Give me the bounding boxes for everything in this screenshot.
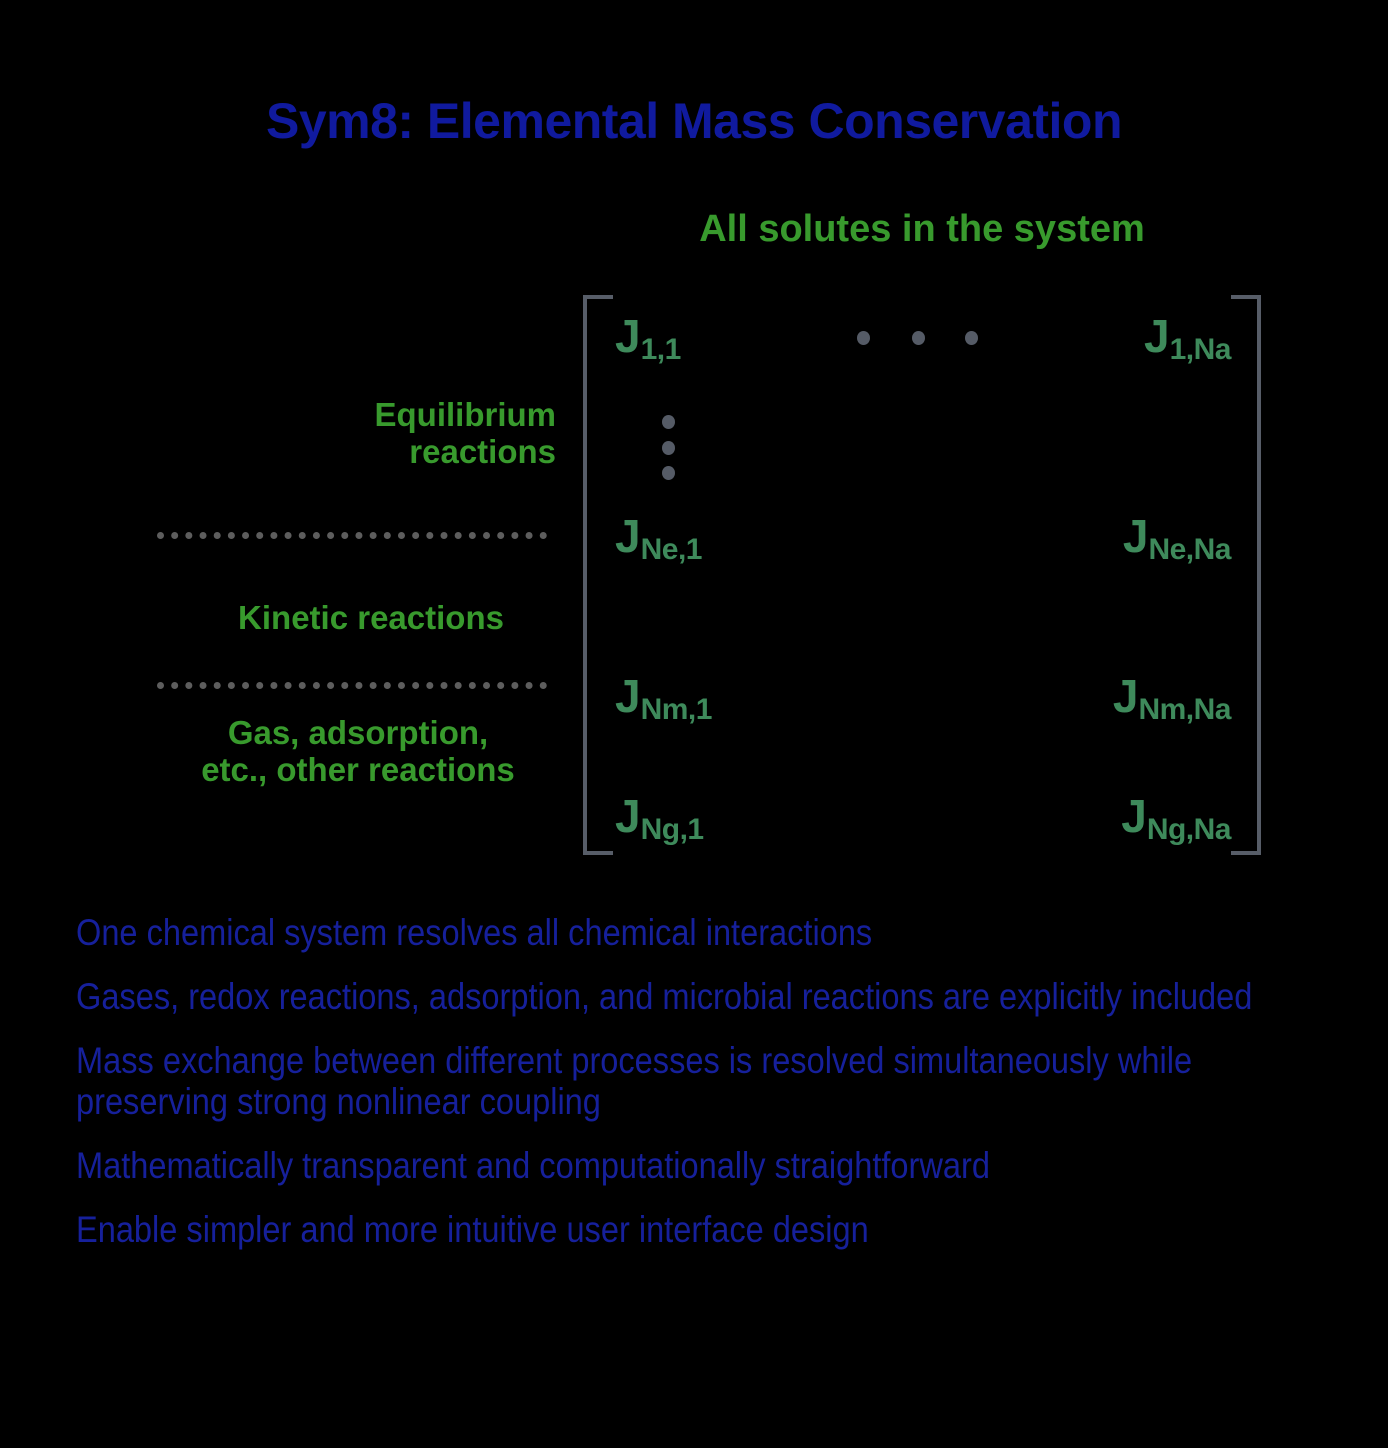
ellipsis-dot xyxy=(662,415,675,429)
page-title: Sym8: Elemental Mass Conservation xyxy=(0,92,1388,150)
matrix-cell-base: J xyxy=(1113,670,1139,722)
bullet-list: One chemical system resolves all chemica… xyxy=(76,912,1326,1273)
ellipsis-dot xyxy=(662,466,675,480)
bullet-item: Gases, redox reactions, adsorption, and … xyxy=(76,976,1326,1018)
row-group-label-equilibrium: Equilibrium reactions xyxy=(186,397,556,471)
row-group-label-kinetic: Kinetic reactions xyxy=(186,600,556,637)
matrix-cell-Nm-1: JNm,1 xyxy=(615,673,712,719)
matrix-cell-Nm-Na: JNm,Na xyxy=(1113,673,1231,719)
matrix-cell-subscript: 1,Na xyxy=(1170,333,1231,366)
ellipsis-dot xyxy=(662,441,675,455)
bullet-item: Mathematically transparent and computati… xyxy=(76,1145,1326,1187)
matrix-cell-1-1: J1,1 xyxy=(615,313,681,359)
ellipsis-dot xyxy=(965,331,978,345)
matrix-cell-base: J xyxy=(1144,310,1170,362)
matrix-cell-Ne-1: JNe,1 xyxy=(615,513,702,559)
row-group-separator-bottom xyxy=(157,682,547,689)
matrix-cell-subscript: Nm,1 xyxy=(641,693,712,726)
matrix-bracket-left-icon xyxy=(583,295,613,855)
matrix-cell-base: J xyxy=(615,310,641,362)
matrix-cell-Ng-1: JNg,1 xyxy=(615,793,704,839)
matrix-cell-subscript: Nm,Na xyxy=(1138,693,1231,726)
bullet-item: One chemical system resolves all chemica… xyxy=(76,912,1326,954)
matrix-cell-base: J xyxy=(1123,510,1149,562)
matrix-cell-Ng-Na: JNg,Na xyxy=(1121,793,1231,839)
jacobian-matrix: J1,1 J1,Na JNe,1 JNe,Na JNm,1 JNm,Na JNg… xyxy=(583,295,1261,855)
ellipsis-dot xyxy=(857,331,870,345)
matrix-bracket-right-icon xyxy=(1231,295,1261,855)
matrix-cell-Ne-Na: JNe,Na xyxy=(1123,513,1231,559)
matrix-cell-subscript: Ng,1 xyxy=(641,813,704,846)
matrix-cell-base: J xyxy=(615,790,641,842)
bullet-item: Mass exchange between different processe… xyxy=(76,1040,1326,1124)
matrix-cell-subscript: Ng,Na xyxy=(1147,813,1231,846)
matrix-cell-subscript: 1,1 xyxy=(641,333,681,366)
ellipsis-dot xyxy=(912,331,925,345)
matrix-cell-base: J xyxy=(615,670,641,722)
matrix-cell-1-Na: J1,Na xyxy=(1144,313,1231,359)
matrix-cell-base: J xyxy=(1121,790,1147,842)
bullet-item: Enable simpler and more intuitive user i… xyxy=(76,1209,1326,1251)
matrix-cell-subscript: Ne,1 xyxy=(641,533,702,566)
matrix-cell-subscript: Ne,Na xyxy=(1148,533,1231,566)
row-group-separator-top xyxy=(157,532,547,539)
matrix-cell-base: J xyxy=(615,510,641,562)
row-group-label-other: Gas, adsorption, etc., other reactions xyxy=(160,715,556,789)
matrix-column-header: All solutes in the system xyxy=(583,208,1261,251)
